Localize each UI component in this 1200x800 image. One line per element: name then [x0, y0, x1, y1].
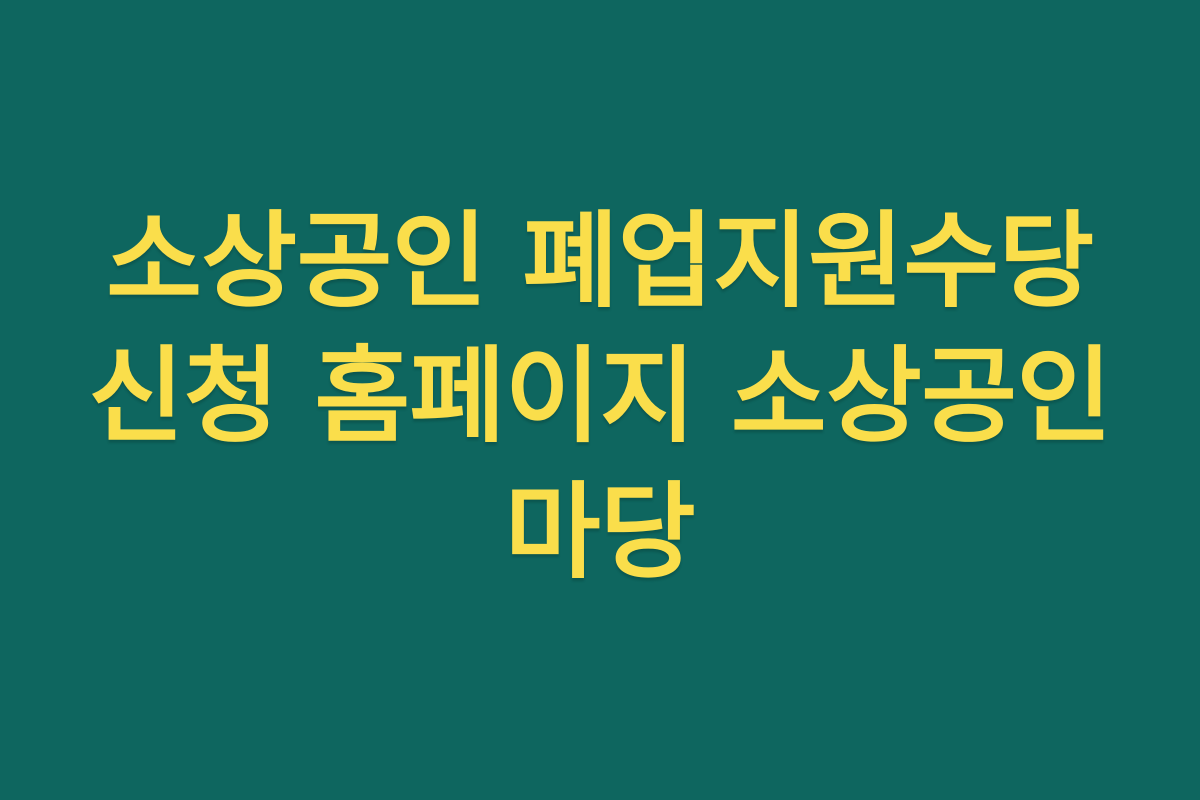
- headline-line-3: 마당: [80, 465, 1120, 600]
- headline-line-1: 소상공인 폐업지원수당: [80, 194, 1120, 329]
- thumbnail-canvas: 소상공인 폐업지원수당 신청 홈페이지 소상공인 마당: [0, 0, 1200, 800]
- headline-line-2: 신청 홈페이지 소상공인: [80, 329, 1120, 464]
- headline-block: 소상공인 폐업지원수당 신청 홈페이지 소상공인 마당: [80, 194, 1120, 606]
